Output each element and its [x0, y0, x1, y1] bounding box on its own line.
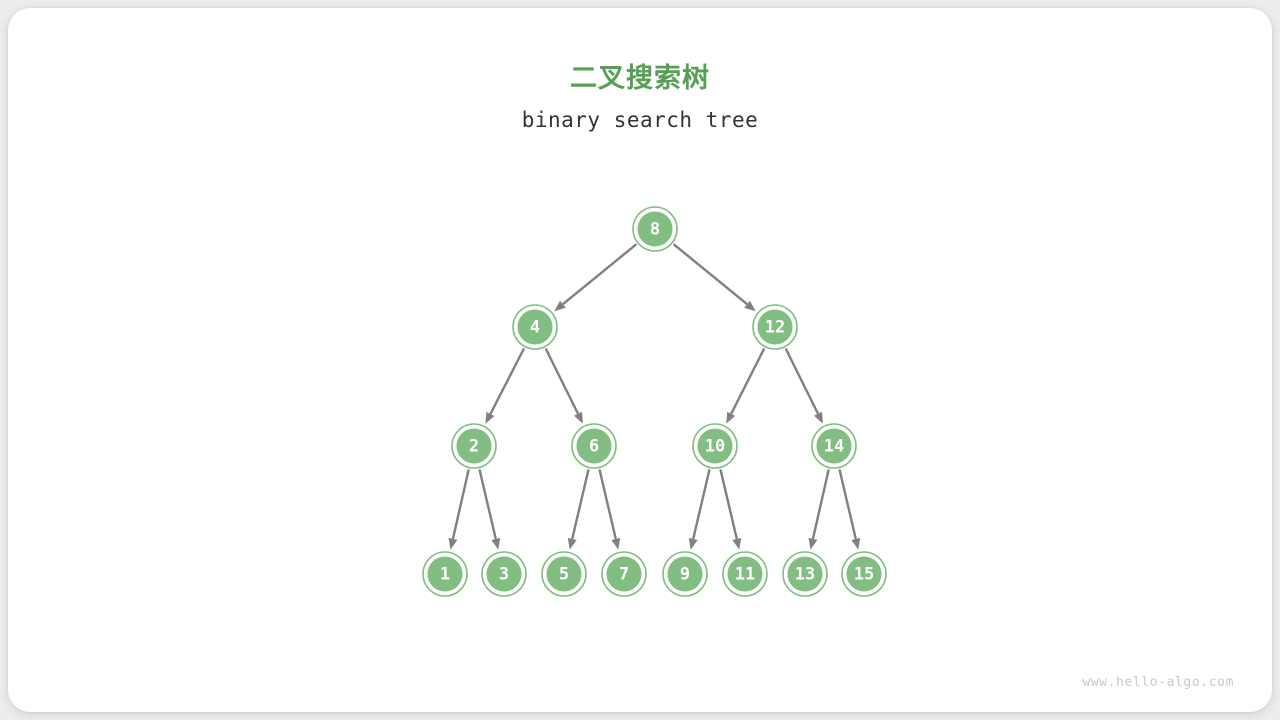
tree-edge — [809, 469, 829, 549]
binary-search-tree-diagram: 841226101413579111315 — [8, 8, 1272, 712]
tree-node[interactable]: 5 — [542, 552, 586, 596]
edge-line — [563, 244, 637, 304]
edge-line — [693, 469, 709, 539]
edge-arrowhead-icon — [809, 538, 818, 550]
edge-line — [546, 349, 578, 414]
tree-edge — [485, 348, 524, 423]
edge-line — [479, 469, 495, 539]
edge-line — [813, 469, 829, 538]
tree-node[interactable]: 1 — [423, 552, 467, 596]
node-label: 12 — [765, 318, 785, 338]
site-watermark: www.hello-algo.com — [1082, 675, 1234, 690]
node-label: 14 — [824, 437, 844, 457]
edge-arrowhead-icon — [568, 538, 577, 550]
tree-edge — [449, 469, 469, 549]
edge-line — [572, 469, 588, 539]
tree-edge — [599, 469, 620, 549]
tree-nodes-layer: 841226101413579111315 — [423, 207, 886, 596]
node-label: 1 — [440, 565, 450, 585]
edge-arrowhead-icon — [851, 538, 860, 550]
tree-edge — [839, 469, 860, 549]
node-label: 7 — [619, 565, 629, 585]
tree-node[interactable]: 11 — [723, 552, 767, 596]
edge-line — [490, 348, 524, 414]
tree-edge — [554, 244, 636, 311]
tree-node[interactable]: 12 — [753, 305, 797, 349]
node-label: 11 — [735, 565, 755, 585]
tree-edge — [689, 469, 710, 549]
node-label: 9 — [680, 565, 690, 585]
tree-node[interactable]: 6 — [572, 424, 616, 468]
tree-node[interactable]: 2 — [452, 424, 496, 468]
tree-node[interactable]: 3 — [482, 552, 526, 596]
tree-edge — [479, 469, 500, 549]
tree-node[interactable]: 7 — [602, 552, 646, 596]
screenshot-canvas: 二叉搜索树 binary search tree 841226101413579… — [0, 0, 1280, 720]
tree-node[interactable]: 14 — [812, 424, 856, 468]
node-label: 6 — [589, 437, 599, 457]
tree-node[interactable]: 4 — [513, 305, 557, 349]
edge-line — [839, 469, 855, 539]
node-label: 2 — [469, 437, 479, 457]
edge-line — [674, 244, 748, 304]
edge-line — [731, 348, 764, 413]
tree-edge — [786, 349, 823, 424]
node-label: 8 — [650, 220, 660, 240]
node-label: 13 — [795, 565, 815, 585]
tree-node[interactable]: 15 — [842, 552, 886, 596]
node-label: 5 — [559, 565, 569, 585]
tree-node[interactable]: 8 — [633, 207, 677, 251]
edge-arrowhead-icon — [689, 538, 698, 550]
edge-arrowhead-icon — [732, 538, 741, 550]
node-label: 3 — [499, 565, 509, 585]
edge-arrowhead-icon — [611, 538, 620, 550]
diagram-card: 二叉搜索树 binary search tree 841226101413579… — [8, 8, 1272, 712]
tree-edge — [568, 469, 589, 549]
edge-line — [786, 349, 818, 414]
tree-edge — [720, 469, 741, 549]
edge-arrowhead-icon — [449, 538, 458, 550]
node-label: 10 — [705, 437, 725, 457]
edge-arrowhead-icon — [491, 538, 500, 550]
edge-line — [720, 469, 736, 539]
tree-edge — [674, 244, 756, 311]
tree-node[interactable]: 9 — [663, 552, 707, 596]
node-label: 15 — [854, 565, 874, 585]
tree-node[interactable]: 13 — [783, 552, 827, 596]
tree-edge — [726, 348, 764, 423]
edge-line — [599, 469, 615, 539]
node-label: 4 — [530, 318, 540, 338]
tree-node[interactable]: 10 — [693, 424, 737, 468]
tree-edge — [546, 349, 583, 424]
edge-line — [453, 469, 469, 538]
tree-edges-layer — [449, 244, 861, 549]
